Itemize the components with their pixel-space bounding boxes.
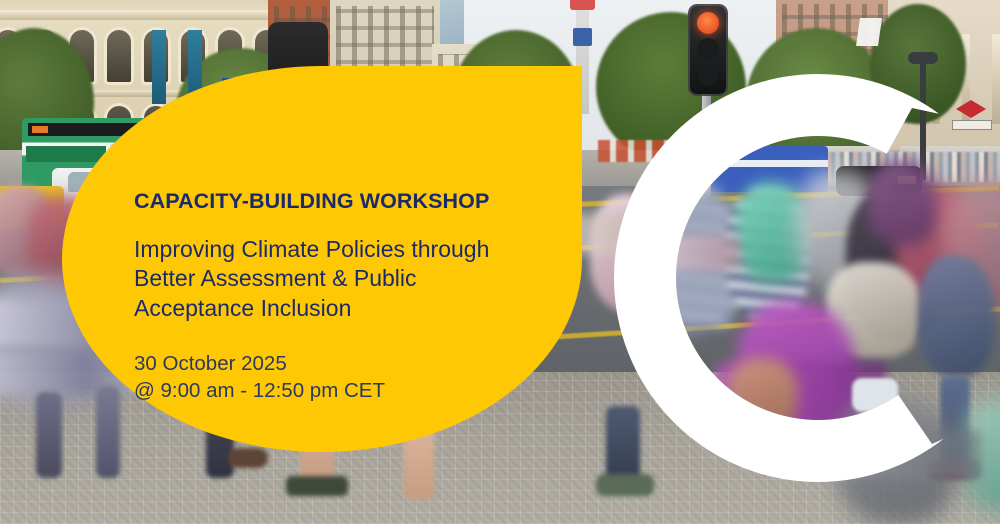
- pedestrian-sneaker: [852, 378, 898, 412]
- pedestrian-shoe: [596, 474, 654, 496]
- event-datetime: 30 October 2025 @ 9:00 am - 12:50 pm CET: [134, 350, 534, 404]
- event-title-line-1: Improving Climate Policies through: [134, 235, 534, 265]
- pedestrian-purple-top: [868, 160, 936, 246]
- event-kicker: CAPACITY-BUILDING WORKSHOP: [134, 190, 534, 213]
- pedestrian-shoe: [228, 448, 268, 468]
- pedestrian-jeans: [918, 256, 994, 376]
- event-banner: CAPACITY-BUILDING WORKSHOP Improving Cli…: [0, 0, 1000, 524]
- motion-streak: [800, 430, 980, 478]
- pedestrian-sandal: [286, 476, 348, 496]
- event-title-line-2: Better Assessment & Public: [134, 264, 534, 294]
- pedestrian-leg: [96, 386, 120, 478]
- event-title: Improving Climate Policies through Bette…: [134, 235, 534, 325]
- event-date: 30 October 2025: [134, 350, 534, 377]
- banner-copy: CAPACITY-BUILDING WORKSHOP Improving Cli…: [134, 190, 534, 404]
- event-title-line-3: Acceptance Inclusion: [134, 294, 534, 324]
- event-time: @ 9:00 am - 12:50 pm CET: [134, 377, 534, 404]
- pedestrian-leg: [36, 392, 62, 478]
- pedestrian-arm: [728, 358, 798, 432]
